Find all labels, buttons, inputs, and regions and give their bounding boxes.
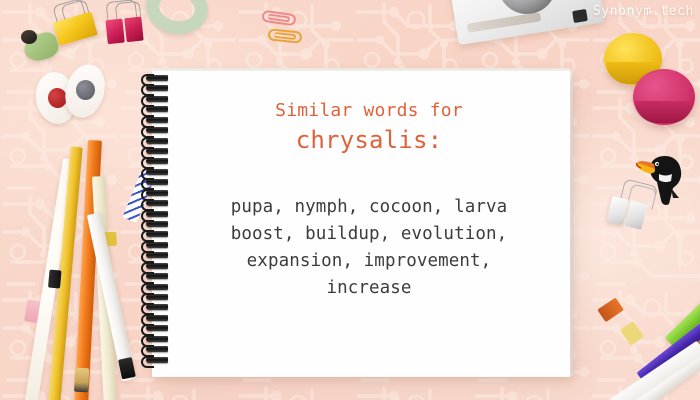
spiral-coil (138, 158, 168, 164)
spiral-coil (138, 190, 168, 196)
notebook-content: Similar words for chrysalis: pupa, nymph… (182, 98, 556, 302)
synonym-line: expansion, improvement, (182, 248, 556, 275)
spiral-coil (138, 242, 168, 248)
pencil-orange-tip (74, 368, 89, 393)
spiral-binding (138, 75, 172, 371)
spiral-coil (138, 252, 168, 258)
spiral-coil (138, 200, 168, 206)
heading-query-word: chrysalis: (182, 124, 556, 156)
screenshot-root: Similar words for chrysalis: pupa, nymph… (0, 0, 700, 400)
spiral-coil (138, 117, 168, 123)
eraser-gray-dot-center (76, 80, 95, 100)
spiral-coil (138, 221, 168, 227)
spiral-coil (138, 273, 168, 279)
spiral-coil (138, 106, 168, 112)
spiral-coil (138, 75, 168, 81)
spiral-coil (138, 211, 168, 217)
synonym-line: boost, buildup, evolution, (182, 221, 556, 248)
spiral-coil (138, 284, 168, 290)
synonym-list: pupa, nymph, cocoon, larvaboost, buildup… (182, 194, 556, 302)
spiral-coil (138, 127, 168, 133)
spiral-coil (138, 357, 168, 363)
site-logo: Synonym.tech (593, 4, 694, 19)
spiral-coil (138, 231, 168, 237)
heading-similar-words: Similar words for (182, 98, 556, 124)
spiral-coil (138, 169, 168, 175)
spiral-coil (138, 96, 168, 102)
eraser-green-bird-head (21, 30, 37, 44)
spiral-coil (138, 304, 168, 310)
spiral-coil (138, 315, 168, 321)
spiral-coil (138, 138, 168, 144)
spiral-coil (138, 263, 168, 269)
synonym-line: pupa, nymph, cocoon, larva (182, 194, 556, 221)
synonym-line: increase (182, 275, 556, 302)
camera-flash (572, 9, 588, 23)
spiral-coil (138, 294, 168, 300)
spiral-coil (138, 336, 168, 342)
pencil-yellow-ferrule (48, 270, 62, 289)
spiral-coil (138, 179, 168, 185)
spiral-coil (138, 85, 168, 91)
spiral-coil (138, 346, 168, 352)
spiral-coil (138, 325, 168, 331)
spiral-coil (138, 148, 168, 154)
notebook: Similar words for chrysalis: pupa, nymph… (152, 71, 570, 376)
